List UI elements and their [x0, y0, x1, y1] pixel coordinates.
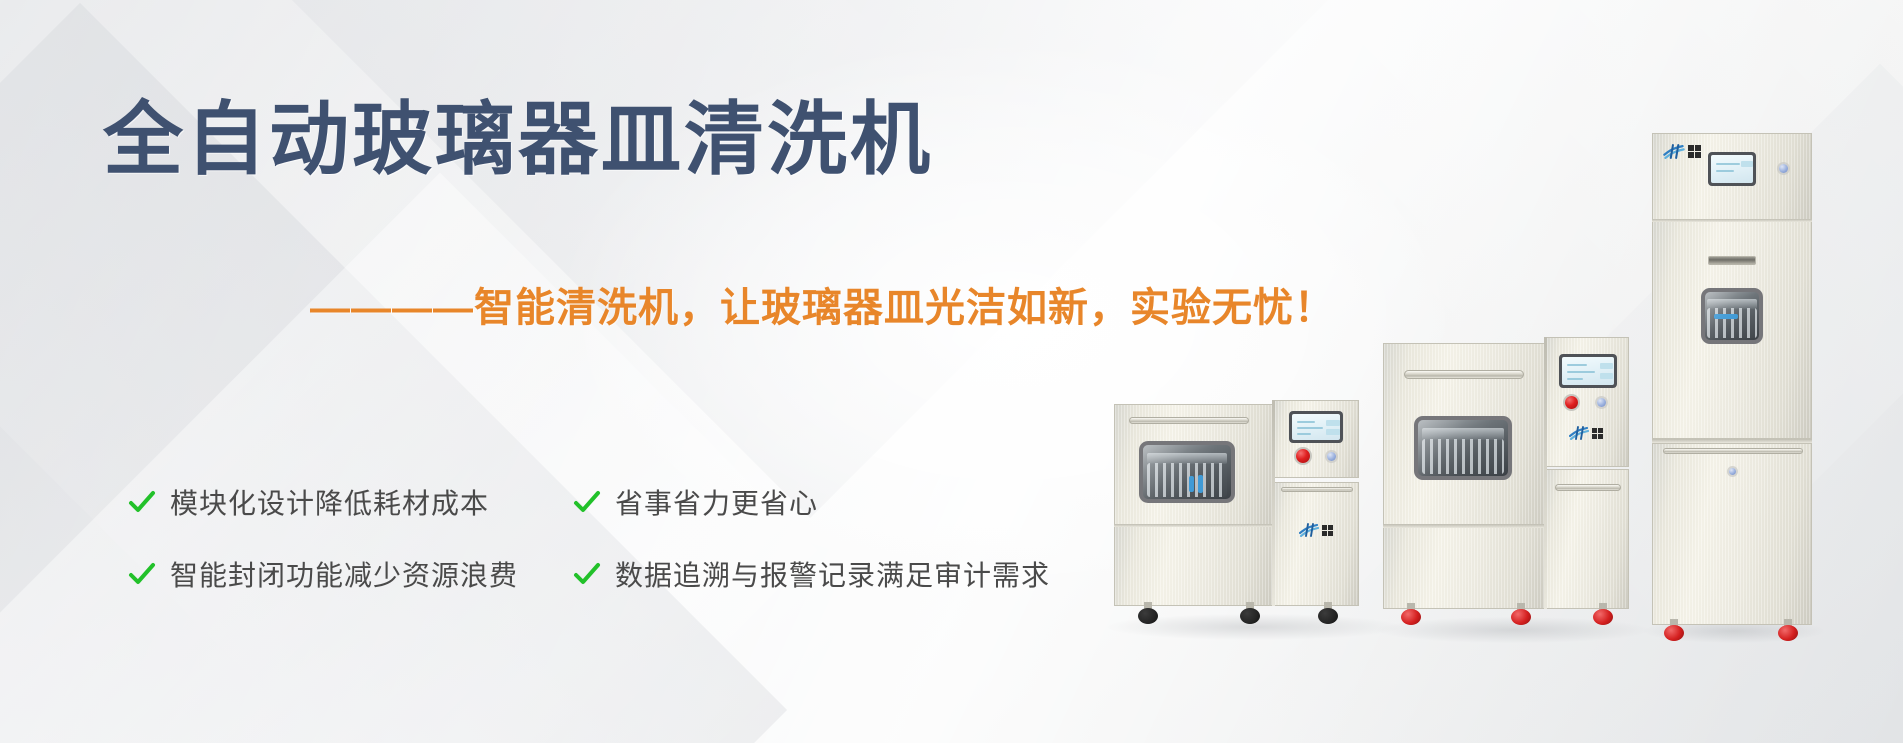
cabinet-handle — [1555, 484, 1621, 491]
caster-wheel — [1401, 603, 1421, 625]
product-banner: 全自动玻璃器皿清洗机 ————智能清洗机，让玻璃器皿光洁如新，实验无忧！ 模块化… — [0, 0, 1903, 743]
check-icon — [573, 560, 601, 588]
column-seam — [1272, 400, 1275, 606]
background-facet-6 — [1244, 64, 1903, 743]
caster-wheel — [1240, 602, 1260, 624]
touchscreen-bezel[interactable] — [1559, 354, 1617, 388]
feature-label: 模块化设计降低耗材成本 — [170, 482, 489, 522]
column-seam — [1544, 337, 1547, 609]
brushed-finish — [1115, 405, 1273, 525]
brushed-finish — [1653, 134, 1811, 220]
touchscreen-display[interactable] — [1292, 414, 1340, 440]
touchscreen-display[interactable] — [1562, 357, 1614, 385]
brushed-finish — [1384, 344, 1545, 524]
background-facet-4 — [0, 173, 977, 743]
glass-reflection — [1705, 292, 1759, 340]
caster-wheel — [1318, 602, 1338, 624]
control-panel-housing — [1274, 400, 1359, 478]
viewing-window — [1414, 416, 1512, 480]
door-handle — [1129, 417, 1249, 424]
cabinet-door — [1274, 482, 1359, 606]
brand-logo — [1569, 426, 1603, 440]
check-icon — [128, 560, 156, 588]
check-icon — [128, 488, 156, 516]
viewing-window — [1139, 441, 1235, 503]
brand-swoosh-icon — [1299, 523, 1319, 537]
brushed-finish — [1653, 222, 1811, 438]
brand-logo — [1299, 523, 1333, 537]
brushed-finish — [1384, 528, 1545, 608]
lower-service-panel — [1383, 527, 1546, 609]
glass-reflection — [1418, 420, 1508, 476]
door-handle — [1663, 448, 1803, 454]
cabinet-door — [1546, 469, 1629, 609]
brand-wordmark-icon — [1688, 145, 1701, 158]
feature-item-3: 智能封闭功能减少资源浪费 — [128, 554, 573, 594]
brand-wordmark-icon — [1592, 428, 1603, 439]
vent-slot — [1708, 256, 1756, 265]
feature-list: 模块化设计降低耗材成本 省事省力更省心 智能封闭功能减少资源浪费 数据追溯与报警… — [128, 466, 1050, 610]
emergency-stop-button[interactable] — [1565, 396, 1578, 409]
touchscreen-bezel[interactable] — [1708, 152, 1756, 186]
glassware-load — [1422, 439, 1505, 474]
banner-headline: 全自动玻璃器皿清洗机 — [103, 100, 933, 180]
brand-wordmark-icon — [1322, 525, 1333, 536]
feature-label: 省事省力更省心 — [615, 482, 818, 522]
rack-shelf — [1707, 299, 1757, 310]
brand-logo — [1663, 144, 1701, 159]
feature-item-2: 省事省力更省心 — [573, 482, 1050, 522]
brand-swoosh-icon — [1663, 144, 1685, 159]
brushed-finish — [1547, 338, 1628, 466]
emergency-stop-button[interactable] — [1296, 449, 1310, 463]
lower-service-panel — [1114, 526, 1274, 606]
power-indicator-button[interactable] — [1327, 452, 1336, 461]
touchscreen-bezel[interactable] — [1289, 411, 1343, 443]
glassware-load — [1707, 308, 1757, 338]
caster-wheel — [1664, 619, 1684, 641]
ground-shadow — [1108, 614, 1400, 640]
blue-accessory — [1189, 476, 1194, 492]
glass-reflection — [1143, 445, 1231, 499]
lower-door — [1652, 443, 1812, 625]
rack-shelf — [1422, 428, 1505, 440]
caster-wheel — [1593, 603, 1613, 625]
wash-chamber-door — [1652, 221, 1812, 439]
brand-swoosh-icon — [1569, 426, 1589, 440]
brushed-finish — [1115, 527, 1273, 605]
product-image-undercounter-washer — [1114, 400, 1394, 630]
ground-shadow — [1644, 619, 1824, 643]
control-panel-housing — [1546, 337, 1629, 467]
panel-seam — [1652, 439, 1812, 443]
brushed-finish — [1275, 483, 1358, 605]
top-control-section — [1652, 133, 1812, 221]
banner-subheadline: ————智能清洗机，让玻璃器皿光洁如新，实验无忧！ — [310, 288, 1335, 328]
door-lock-button[interactable] — [1729, 468, 1736, 475]
product-image-tall-cabinet-washer — [1652, 133, 1817, 633]
panel-seam — [1114, 524, 1274, 527]
panel-seam — [1652, 219, 1812, 222]
wash-chamber-door — [1114, 404, 1274, 526]
caster-wheel — [1778, 619, 1798, 641]
ground-shadow — [1377, 617, 1649, 643]
viewing-window — [1701, 288, 1763, 344]
feature-item-1: 模块化设计降低耗材成本 — [128, 482, 573, 522]
panel-seam — [1383, 524, 1546, 528]
door-handle — [1404, 370, 1524, 379]
cabinet-handle — [1281, 487, 1353, 492]
brushed-finish — [1275, 401, 1358, 477]
caster-wheel — [1511, 603, 1531, 625]
touchscreen-display[interactable] — [1711, 155, 1753, 183]
feature-label: 智能封闭功能减少资源浪费 — [170, 554, 518, 594]
brushed-finish — [1547, 470, 1628, 608]
blue-accessory — [1198, 475, 1203, 493]
background-facet-5 — [994, 0, 1903, 666]
feature-item-4: 数据追溯与报警记录满足审计需求 — [573, 554, 1050, 594]
blue-accessory — [1714, 314, 1738, 319]
rack-shelf — [1147, 453, 1228, 465]
wash-chamber-door — [1383, 343, 1546, 525]
brushed-finish — [1653, 444, 1811, 624]
product-image-freestanding-washer — [1383, 333, 1643, 633]
glassware-load — [1147, 463, 1228, 496]
power-indicator-button[interactable] — [1779, 164, 1788, 173]
background-facet-3 — [202, 0, 1418, 518]
caster-wheel — [1138, 602, 1158, 624]
power-indicator-button[interactable] — [1597, 398, 1606, 407]
feature-label: 数据追溯与报警记录满足审计需求 — [615, 554, 1050, 594]
check-icon — [573, 488, 601, 516]
